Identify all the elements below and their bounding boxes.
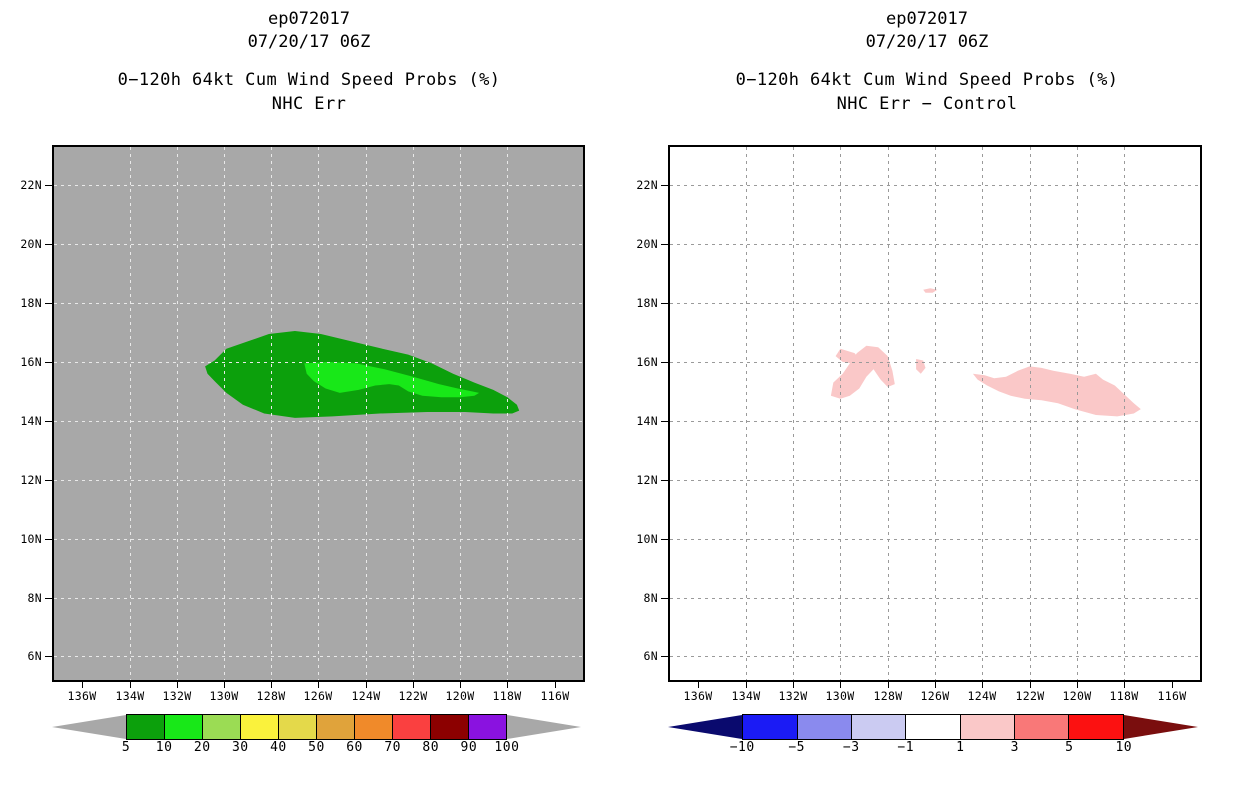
gridline-horizontal <box>54 244 583 245</box>
x-axis-label: 120W <box>446 691 475 702</box>
colorbar-bands-right <box>742 714 1124 740</box>
colorbar-band <box>743 715 797 739</box>
x-axis-tick <box>840 680 841 688</box>
left-storm-id: ep072017 <box>0 8 618 31</box>
colorbar-band <box>355 715 393 739</box>
y-axis-label: 12N <box>636 475 658 486</box>
gridline-vertical <box>982 147 983 680</box>
x-axis-label: 132W <box>163 691 192 702</box>
gridline-vertical <box>888 147 889 680</box>
wind-speed-probability-figure: ep072017 07/20/17 06Z 0−120h 64kt Cum Wi… <box>0 0 1236 800</box>
gridline-horizontal <box>670 244 1200 245</box>
x-axis-tick <box>130 680 131 688</box>
x-axis-tick <box>746 680 747 688</box>
colorbar-tick-label: 5 <box>122 741 130 755</box>
gridline-vertical <box>366 147 367 680</box>
x-axis-label: 134W <box>732 691 761 702</box>
colorbar-tick-label: 1 <box>956 741 964 755</box>
gridline-horizontal <box>670 598 1200 599</box>
x-axis-tick <box>507 680 508 688</box>
gridline-horizontal <box>54 185 583 186</box>
gridline-vertical <box>177 147 178 680</box>
gridline-horizontal <box>670 656 1200 657</box>
x-axis-tick <box>318 680 319 688</box>
left-chart-subtitle: NHC Err <box>0 93 618 115</box>
x-axis-tick <box>366 680 367 688</box>
colorbar-band <box>165 715 203 739</box>
colorbar-tick-label: 50 <box>308 741 325 755</box>
x-axis-label: 128W <box>257 691 286 702</box>
x-axis-tick <box>1077 680 1078 688</box>
colorbar-band <box>127 715 165 739</box>
y-axis-tick <box>661 539 670 540</box>
y-axis-tick <box>661 362 670 363</box>
x-axis-tick <box>1172 680 1173 688</box>
gridline-horizontal <box>670 539 1200 540</box>
left-chart-title: 0−120h 64kt Cum Wind Speed Probs (%) <box>0 68 618 93</box>
colorbar-tick-label: 80 <box>422 741 439 755</box>
y-axis-label: 14N <box>636 416 658 427</box>
colorbar-tick-label: 20 <box>194 741 211 755</box>
colorbar-tick-label: −5 <box>788 741 805 755</box>
colorbar-tick-label: 40 <box>270 741 287 755</box>
colorbar-band <box>317 715 355 739</box>
right-chart-subtitle: NHC Err − Control <box>618 93 1236 115</box>
left-datetime: 07/20/17 06Z <box>0 31 618 54</box>
gridline-horizontal <box>54 598 583 599</box>
y-axis-label: 20N <box>636 239 658 250</box>
y-axis-label: 10N <box>20 534 42 545</box>
y-axis-label: 6N <box>28 651 42 662</box>
colorbar-bands-left <box>126 714 507 740</box>
right-map-canvas <box>670 147 1200 680</box>
gridline-vertical <box>271 147 272 680</box>
right-storm-id: ep072017 <box>618 8 1236 31</box>
x-axis-label: 136W <box>68 691 97 702</box>
x-axis-tick <box>793 680 794 688</box>
colorbar-band <box>203 715 241 739</box>
right-map-frame: 136W134W132W130W128W126W124W122W120W118W… <box>668 145 1202 682</box>
colorbar-high-cap-right <box>1124 714 1198 740</box>
y-axis-tick <box>661 421 670 422</box>
colorbar-tick-label: 5 <box>1065 741 1073 755</box>
gridline-horizontal <box>54 480 583 481</box>
x-axis-tick <box>460 680 461 688</box>
y-axis-tick <box>661 656 670 657</box>
colorbar-tick-label: 30 <box>232 741 249 755</box>
gridline-horizontal <box>54 656 583 657</box>
x-axis-label: 124W <box>352 691 381 702</box>
x-axis-label: 126W <box>921 691 950 702</box>
x-axis-label: 130W <box>826 691 855 702</box>
gridline-vertical <box>224 147 225 680</box>
x-axis-tick <box>888 680 889 688</box>
colorbar-tick-label: 90 <box>461 741 478 755</box>
x-axis-label: 128W <box>874 691 903 702</box>
x-axis-tick <box>698 680 699 688</box>
y-axis-label: 22N <box>636 180 658 191</box>
colorbar-band <box>961 715 1015 739</box>
colorbar-ticklabels-left: 5102030405060708090100 <box>126 741 507 759</box>
gridline-vertical <box>507 147 508 680</box>
gridline-vertical <box>746 147 747 680</box>
colorbar-low-cap-right <box>668 714 742 740</box>
y-axis-tick <box>45 480 54 481</box>
y-axis-label: 8N <box>644 593 658 604</box>
x-axis-tick <box>1124 680 1125 688</box>
right-datetime: 07/20/17 06Z <box>618 31 1236 54</box>
colorbar-band <box>906 715 960 739</box>
gridline-vertical <box>413 147 414 680</box>
x-axis-tick <box>82 680 83 688</box>
x-axis-label: 118W <box>1110 691 1139 702</box>
gridline-horizontal <box>670 185 1200 186</box>
colorbar-tick-label: 70 <box>384 741 401 755</box>
colorbar-tick-label: −3 <box>843 741 860 755</box>
right-chart-title: 0−120h 64kt Cum Wind Speed Probs (%) <box>618 68 1236 93</box>
gridline-horizontal <box>54 539 583 540</box>
x-axis-label: 120W <box>1063 691 1092 702</box>
y-axis-tick <box>45 656 54 657</box>
gridline-horizontal <box>54 421 583 422</box>
colorbar-band <box>279 715 317 739</box>
colorbar-tick-label: 60 <box>346 741 363 755</box>
gridline-horizontal <box>54 362 583 363</box>
y-axis-label: 18N <box>20 298 42 309</box>
x-axis-label: 116W <box>1158 691 1187 702</box>
left-title-block: ep072017 07/20/17 06Z 0−120h 64kt Cum Wi… <box>0 8 618 115</box>
y-axis-label: 18N <box>636 298 658 309</box>
gridline-vertical <box>1124 147 1125 680</box>
x-axis-tick <box>982 680 983 688</box>
panel-nhc-err-minus-control: ep072017 07/20/17 06Z 0−120h 64kt Cum Wi… <box>618 0 1236 800</box>
colorbar-band <box>393 715 431 739</box>
y-axis-label: 10N <box>636 534 658 545</box>
y-axis-tick <box>661 598 670 599</box>
colorbar-tick-label: −10 <box>730 741 755 755</box>
y-axis-tick <box>661 244 670 245</box>
gridline-vertical <box>1077 147 1078 680</box>
colorbar-high-cap-left <box>507 714 581 740</box>
gridline-vertical <box>460 147 461 680</box>
y-axis-tick <box>661 185 670 186</box>
gridline-horizontal <box>54 303 583 304</box>
y-axis-tick <box>45 244 54 245</box>
y-axis-label: 16N <box>20 357 42 368</box>
y-axis-label: 20N <box>20 239 42 250</box>
y-axis-tick <box>45 303 54 304</box>
x-axis-label: 118W <box>493 691 522 702</box>
y-axis-tick <box>45 185 54 186</box>
y-axis-label: 8N <box>28 593 42 604</box>
y-axis-label: 22N <box>20 180 42 191</box>
panel-nhc-err: ep072017 07/20/17 06Z 0−120h 64kt Cum Wi… <box>0 0 618 800</box>
y-axis-tick <box>661 303 670 304</box>
y-axis-tick <box>661 480 670 481</box>
colorbar-band <box>241 715 279 739</box>
y-axis-tick <box>45 421 54 422</box>
x-axis-label: 126W <box>304 691 333 702</box>
x-axis-label: 122W <box>399 691 428 702</box>
y-axis-label: 12N <box>20 475 42 486</box>
probability-colorbar: 5102030405060708090100 <box>52 714 581 740</box>
x-axis-label: 122W <box>1016 691 1045 702</box>
gridline-vertical <box>935 147 936 680</box>
colorbar-band <box>1069 715 1122 739</box>
gridline-horizontal <box>670 303 1200 304</box>
x-axis-label: 124W <box>968 691 997 702</box>
colorbar-tick-label: 3 <box>1011 741 1019 755</box>
y-axis-label: 16N <box>636 357 658 368</box>
x-axis-tick <box>177 680 178 688</box>
difference-colorbar: −10−5−3−113510 <box>668 714 1198 740</box>
gridline-vertical <box>130 147 131 680</box>
colorbar-tick-label: −1 <box>897 741 914 755</box>
gridline-vertical <box>1030 147 1031 680</box>
colorbar-tick-label: 100 <box>494 741 519 755</box>
colorbar-ticklabels-right: −10−5−3−113510 <box>742 741 1124 759</box>
y-axis-tick <box>45 598 54 599</box>
gridline-vertical <box>793 147 794 680</box>
colorbar-low-cap-left <box>52 714 126 740</box>
x-axis-tick <box>224 680 225 688</box>
x-axis-label: 132W <box>779 691 808 702</box>
gridline-vertical <box>318 147 319 680</box>
x-axis-label: 134W <box>116 691 145 702</box>
gridline-horizontal <box>670 480 1200 481</box>
right-title-block: ep072017 07/20/17 06Z 0−120h 64kt Cum Wi… <box>618 8 1236 115</box>
gridline-horizontal <box>670 362 1200 363</box>
colorbar-tick-label: 10 <box>1115 741 1132 755</box>
colorbar-band <box>431 715 469 739</box>
y-axis-tick <box>45 362 54 363</box>
x-axis-tick <box>555 680 556 688</box>
y-axis-label: 6N <box>644 651 658 662</box>
contour-region <box>973 366 1141 416</box>
colorbar-tick-label: 10 <box>156 741 173 755</box>
x-axis-tick <box>413 680 414 688</box>
colorbar-band <box>1015 715 1069 739</box>
x-axis-label: 130W <box>210 691 239 702</box>
x-axis-tick <box>271 680 272 688</box>
left-map-frame: 136W134W132W130W128W126W124W122W120W118W… <box>52 145 585 682</box>
gridline-horizontal <box>670 421 1200 422</box>
x-axis-tick <box>1030 680 1031 688</box>
colorbar-band <box>852 715 906 739</box>
left-map-canvas <box>54 147 583 680</box>
x-axis-label: 116W <box>541 691 570 702</box>
colorbar-band <box>798 715 852 739</box>
x-axis-label: 136W <box>684 691 713 702</box>
gridline-vertical <box>840 147 841 680</box>
y-axis-tick <box>45 539 54 540</box>
colorbar-band <box>469 715 506 739</box>
y-axis-label: 14N <box>20 416 42 427</box>
x-axis-tick <box>935 680 936 688</box>
